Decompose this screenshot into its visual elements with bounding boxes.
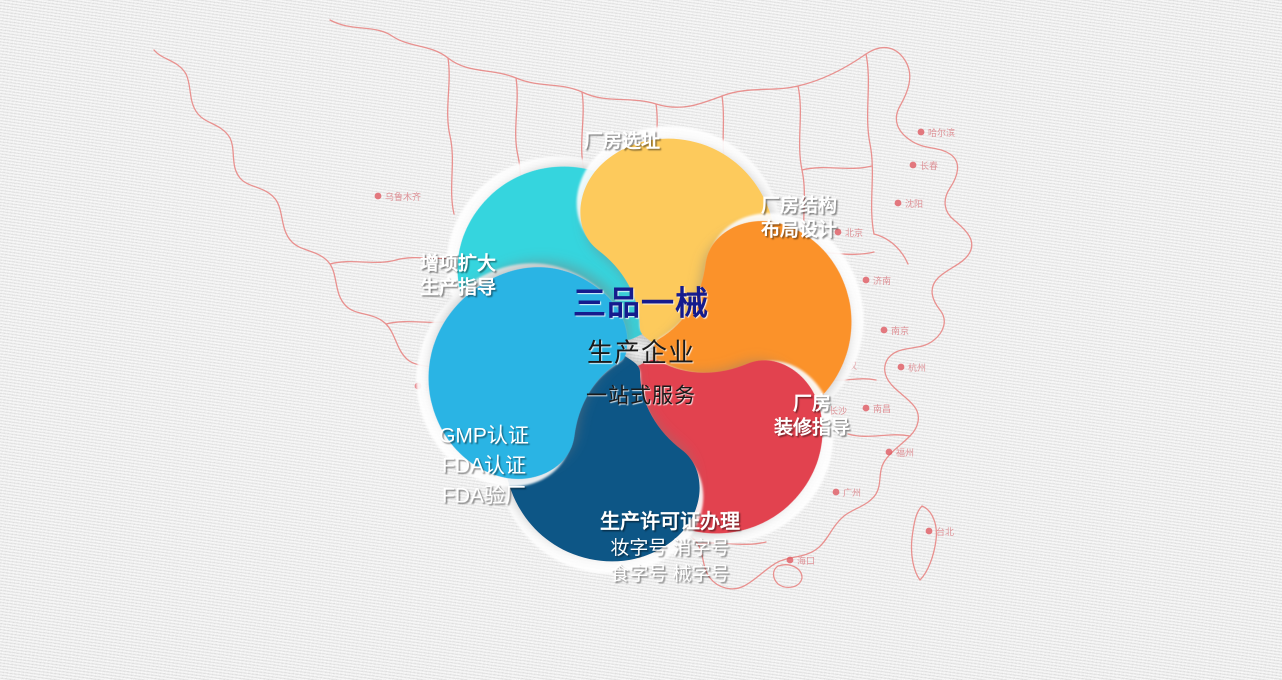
infographic-canvas: 哈尔滨长春 沈阳北京 太原济南 郑州南京 武汉杭州 长沙南昌 福州广州 台北乌鲁… xyxy=(0,0,1282,680)
center-subtitle-secondary: 一站式服务 xyxy=(573,380,709,410)
center-subtitle-primary: 生产企业 xyxy=(573,333,709,370)
center-text-block: 三品一械 生产企业 一站式服务 xyxy=(573,277,709,410)
center-title: 三品一械 xyxy=(573,277,709,325)
